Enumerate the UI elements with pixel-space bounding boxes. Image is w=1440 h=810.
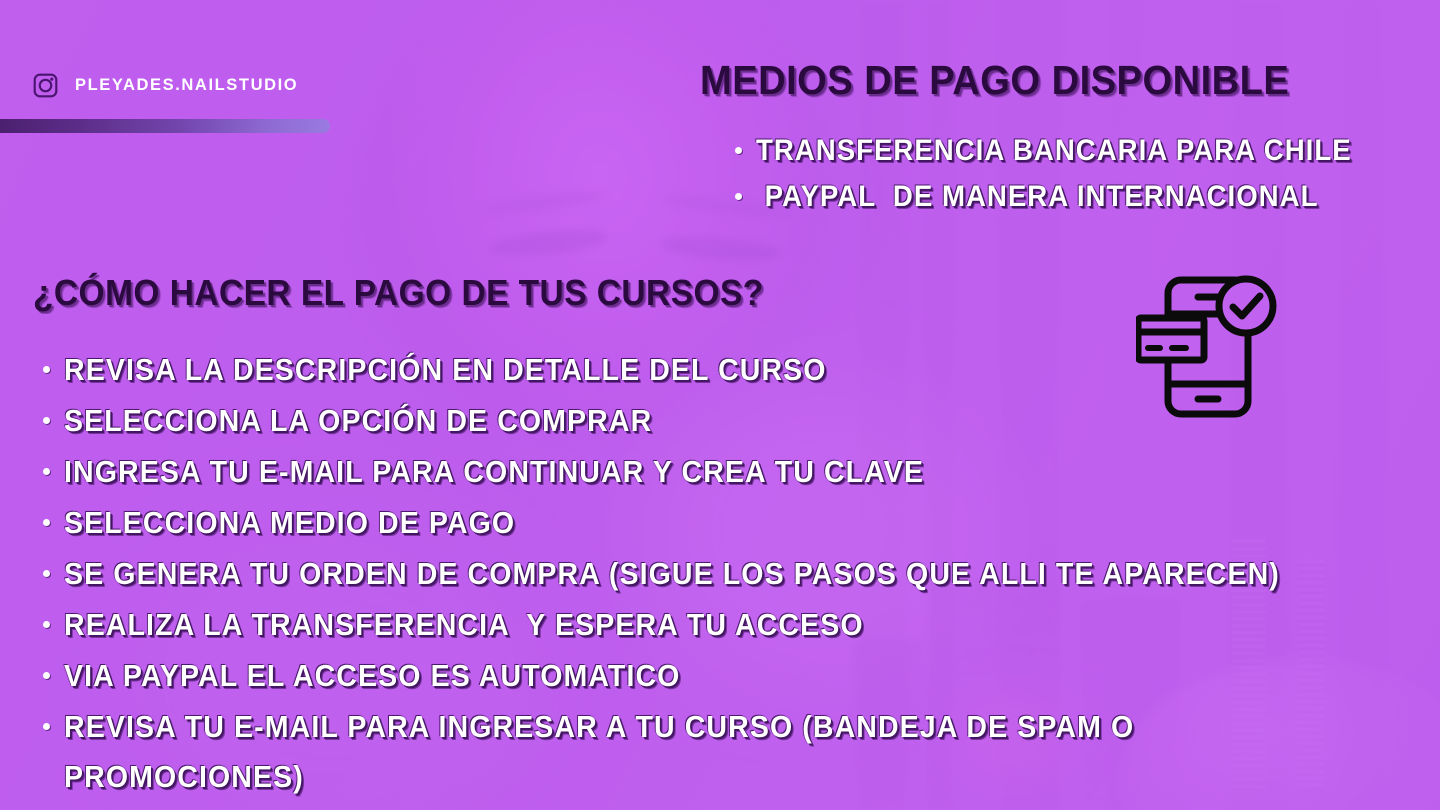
step-item: VIA PAYPAL EL ACCESO ES AUTOMATICO [43,651,1423,701]
bullet-dot-icon [43,723,50,730]
payment-method-item-label: PAYPAL DE MANERA INTERNACIONAL [756,174,1318,220]
step-item: SELECCIONA MEDIO DE PAGO [43,498,1423,548]
steps-title: ¿CÓMO HACER EL PAGO DE TUS CURSOS? [33,272,764,314]
bullet-dot-icon [735,193,742,200]
step-item-label: SELECCIONA MEDIO DE PAGO [64,498,515,548]
instagram-icon [32,72,59,99]
step-item-label: SE GENERA TU ORDEN DE COMPRA (SIGUE LOS … [64,549,1280,599]
step-item: REVISA TU E-MAIL PARA INGRESAR A TU CURS… [43,702,1423,802]
bullet-dot-icon [43,672,50,679]
payment-methods-list: TRANSFERENCIA BANCARIA PARA CHILE PAYPAL… [735,128,1403,220]
step-item: SE GENERA TU ORDEN DE COMPRA (SIGUE LOS … [43,549,1423,599]
step-item: REALIZA LA TRANSFERENCIA Y ESPERA TU ACC… [43,600,1423,650]
payment-method-item-label: TRANSFERENCIA BANCARIA PARA CHILE [756,128,1352,174]
payments-title: MEDIOS DE PAGO DISPONIBLE [700,57,1289,104]
bullet-dot-icon [43,519,50,526]
payment-method-item: PAYPAL DE MANERA INTERNACIONAL [735,174,1403,220]
bullet-dot-icon [43,570,50,577]
step-item-label: INGRESA TU E-MAIL PARA CONTINUAR Y CREA … [64,447,924,497]
step-item-label: REALIZA LA TRANSFERENCIA Y ESPERA TU ACC… [64,600,864,650]
payment-method-item: TRANSFERENCIA BANCARIA PARA CHILE [735,128,1403,174]
step-item: INGRESA TU E-MAIL PARA CONTINUAR Y CREA … [43,447,1423,497]
bullet-dot-icon [735,147,742,154]
bullet-dot-icon [43,468,50,475]
bullet-dot-icon [43,621,50,628]
accent-gradient-bar [0,119,330,133]
bullet-dot-icon [43,417,50,424]
instagram-handle-text: PLEYADES.NAILSTUDIO [75,76,298,95]
step-item-label: SELECCIONA LA OPCIÓN DE COMPRAR [64,396,652,446]
slide-root: PLEYADES.NAILSTUDIO MEDIOS DE PAGO DISPO… [0,0,1440,810]
step-item-label: REVISA LA DESCRIPCIÓN EN DETALLE DEL CUR… [64,345,827,395]
step-item-label: REVISA TU E-MAIL PARA INGRESAR A TU CURS… [64,702,1314,802]
bullet-dot-icon [43,366,50,373]
step-item-label: VIA PAYPAL EL ACCESO ES AUTOMATICO [64,651,680,701]
instagram-handle-row[interactable]: PLEYADES.NAILSTUDIO [32,72,298,99]
mobile-payment-check-icon [1136,266,1296,426]
